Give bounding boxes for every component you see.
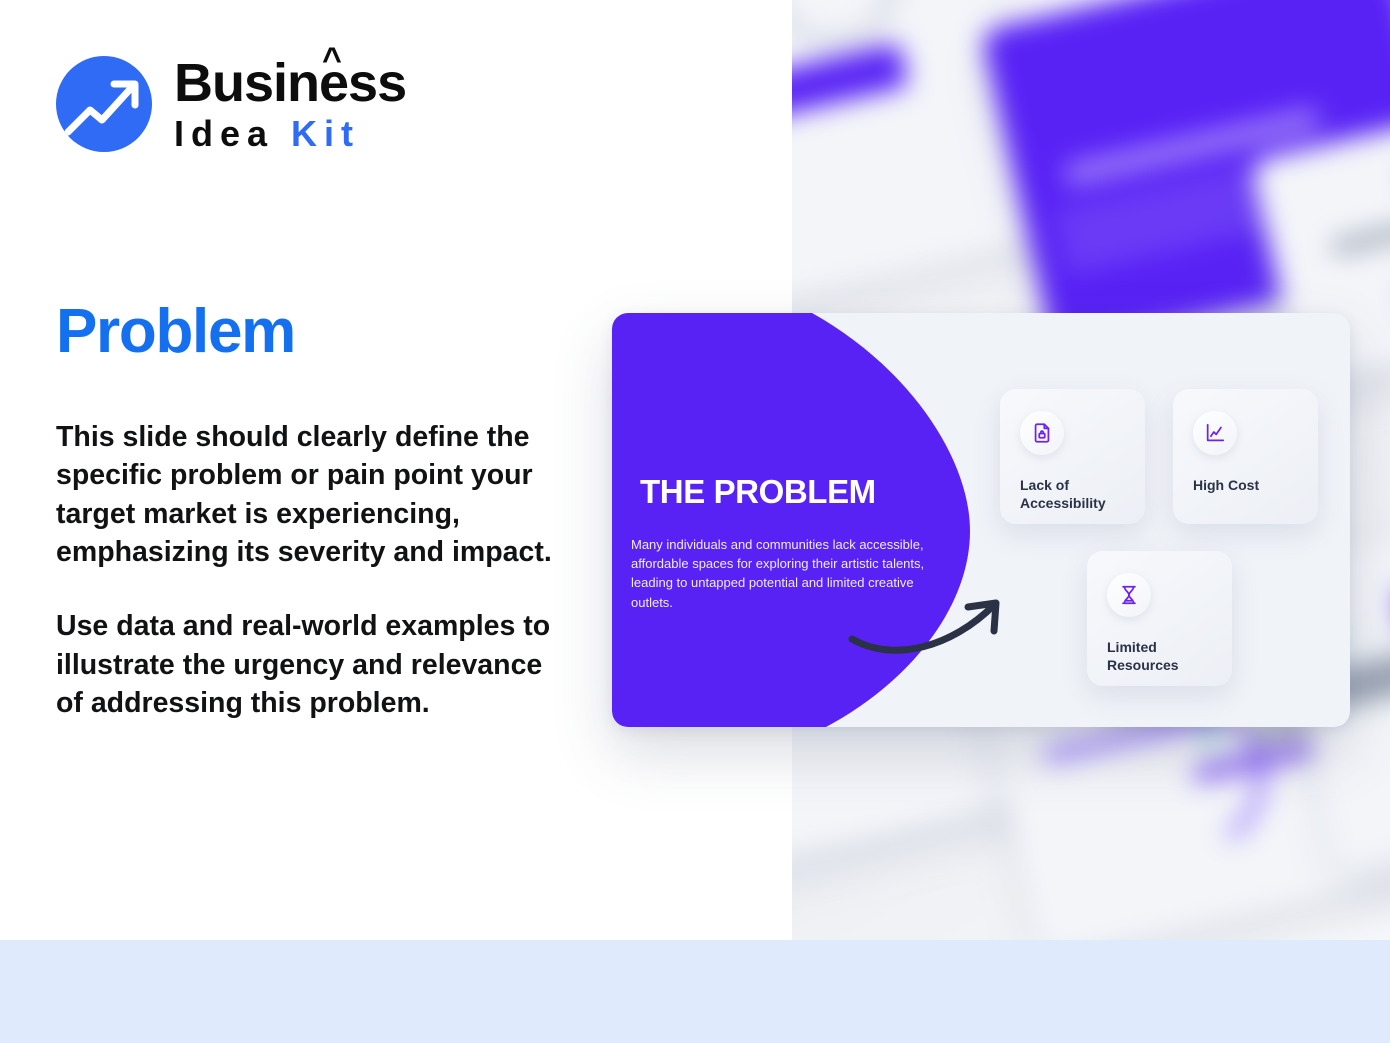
hourglass-icon: [1107, 573, 1151, 617]
brand-word-idea: Idea: [174, 113, 291, 154]
page-root: Business ^ Idea Kit Problem This slide s…: [0, 0, 1390, 1043]
bottom-accent-bar: [0, 940, 1390, 1043]
slide-preview-card[interactable]: THE PROBLEM Many individuals and communi…: [612, 313, 1350, 727]
brand-word-primary-text: Business: [174, 53, 406, 113]
page-description: This slide should clearly define the spe…: [56, 418, 566, 722]
trend-arrow-up-icon: [56, 56, 152, 152]
feature-card-label: High Cost: [1193, 477, 1298, 495]
brand-logo: Business ^ Idea Kit: [56, 56, 406, 152]
description-paragraph-1: This slide should clearly define the spe…: [56, 418, 566, 571]
feature-card-high-cost[interactable]: High Cost: [1173, 389, 1318, 524]
purple-blob-shape: [612, 313, 970, 727]
feature-card-lack-of-accessibility[interactable]: Lack of Accessibility: [1000, 389, 1145, 524]
brand-word-secondary: Idea Kit: [174, 116, 406, 152]
feature-card-limited-resources[interactable]: Limited Resources: [1087, 551, 1232, 686]
brand-word-kit: Kit: [291, 113, 360, 154]
page-title: Problem: [56, 296, 295, 367]
document-lock-icon: [1020, 411, 1064, 455]
feature-card-label: Limited Resources: [1107, 639, 1212, 675]
slide-preview-title: THE PROBLEM: [640, 473, 876, 511]
circumflex-accent-icon: ^: [322, 43, 341, 77]
description-paragraph-2: Use data and real-world examples to illu…: [56, 607, 566, 722]
brand-word-primary: Business ^: [174, 56, 406, 110]
feature-card-label: Lack of Accessibility: [1020, 477, 1125, 513]
curved-arrow-up-right-icon: [848, 595, 1013, 655]
line-chart-up-icon: [1193, 411, 1237, 455]
